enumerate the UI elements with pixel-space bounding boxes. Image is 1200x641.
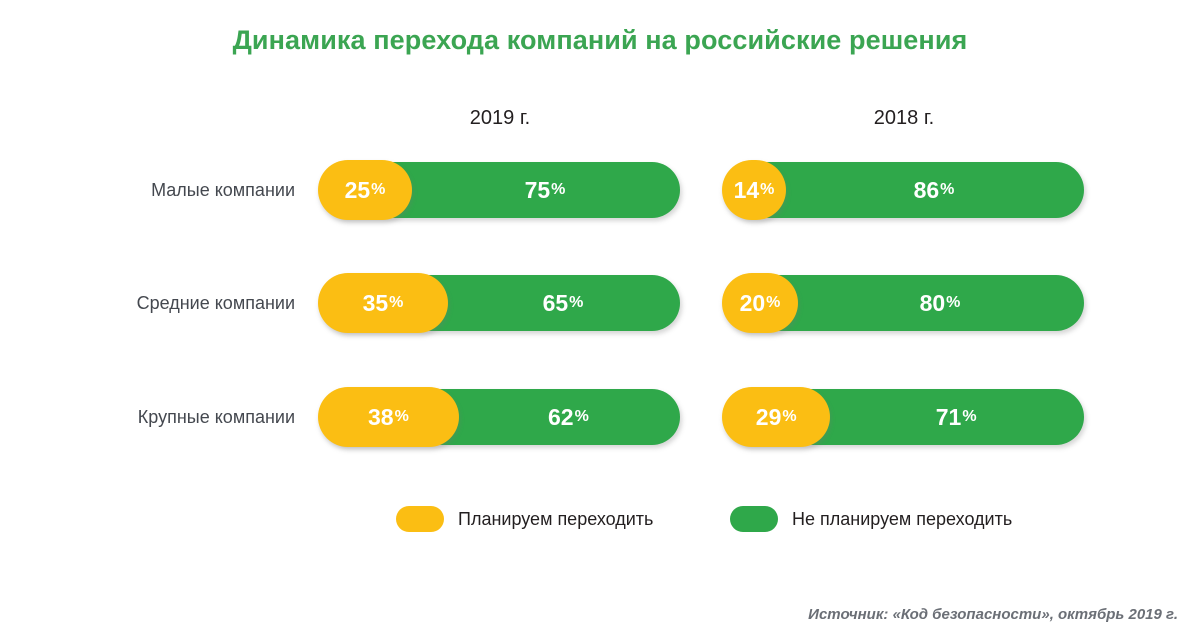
bar-value-yellow-number: 35 (363, 290, 389, 317)
chart-row-medium-companies: Средние компании 35% 65% 20% 80% (0, 272, 1200, 334)
percent-sign: % (946, 294, 960, 312)
bar-value-yellow: 25% (318, 160, 412, 220)
bar-2019: 25% 75% (320, 162, 680, 218)
bar-value-yellow-number: 38 (368, 404, 394, 431)
percent-sign: % (962, 408, 976, 426)
bar-value-yellow: 38% (318, 387, 459, 447)
bar-value-green-number: 75 (525, 177, 551, 204)
column-header-2018: 2018 г. (724, 107, 1084, 130)
chart-page: Динамика перехода компаний на российские… (0, 0, 1200, 641)
bar-value-green: 80% (796, 275, 1084, 331)
bar-2018: 14% 86% (724, 162, 1084, 218)
bar-value-green: 75% (410, 162, 680, 218)
chart-row-large-companies: Крупные компании 38% 62% 29% 71% (0, 386, 1200, 448)
bar-value-green-number: 65 (543, 290, 569, 317)
percent-sign: % (551, 181, 565, 199)
bar-value-yellow: 35% (318, 273, 448, 333)
bar-value-yellow-number: 14 (734, 177, 760, 204)
chart-legend: Планируем переходить Не планируем перехо… (0, 503, 1200, 535)
percent-sign: % (371, 181, 385, 199)
legend-label: Не планируем переходить (792, 509, 1012, 530)
column-header-2019: 2019 г. (320, 107, 680, 130)
bar-2018: 20% 80% (724, 275, 1084, 331)
percent-sign: % (940, 181, 954, 199)
legend-item-planning[interactable]: Планируем переходить (396, 503, 653, 535)
bar-2019: 35% 65% (320, 275, 680, 331)
percent-sign: % (395, 408, 409, 426)
percent-sign: % (389, 294, 403, 312)
bar-value-green: 65% (446, 275, 680, 331)
bar-value-yellow-number: 29 (756, 404, 782, 431)
bar-value-yellow: 14% (722, 160, 786, 220)
bar-value-yellow: 29% (722, 387, 830, 447)
percent-sign: % (575, 408, 589, 426)
bar-value-green: 62% (457, 389, 680, 445)
bar-value-green-number: 62 (548, 404, 574, 431)
bar-value-yellow-number: 20 (740, 290, 766, 317)
bar-value-green-number: 86 (914, 177, 940, 204)
legend-swatch-yellow-icon (396, 506, 444, 532)
legend-swatch-green-icon (730, 506, 778, 532)
row-label: Крупные компании (0, 386, 295, 448)
percent-sign: % (569, 294, 583, 312)
bar-value-green: 86% (784, 162, 1084, 218)
row-label: Средние компании (0, 272, 295, 334)
row-label: Малые компании (0, 159, 295, 221)
page-title: Динамика перехода компаний на российские… (0, 25, 1200, 56)
legend-label: Планируем переходить (458, 509, 653, 530)
bar-2019: 38% 62% (320, 389, 680, 445)
percent-sign: % (760, 181, 774, 199)
bar-value-green-number: 71 (936, 404, 962, 431)
legend-item-not-planning[interactable]: Не планируем переходить (730, 503, 1012, 535)
bar-value-green-number: 80 (920, 290, 946, 317)
percent-sign: % (766, 294, 780, 312)
bar-value-yellow: 20% (722, 273, 798, 333)
percent-sign: % (782, 408, 796, 426)
source-note: Источник: «Код безопасности», октябрь 20… (808, 606, 1178, 623)
bar-value-yellow-number: 25 (345, 177, 371, 204)
chart-row-small-companies: Малые компании 25% 75% 14% 86% (0, 159, 1200, 221)
bar-value-green: 71% (828, 389, 1084, 445)
bar-2018: 29% 71% (724, 389, 1084, 445)
